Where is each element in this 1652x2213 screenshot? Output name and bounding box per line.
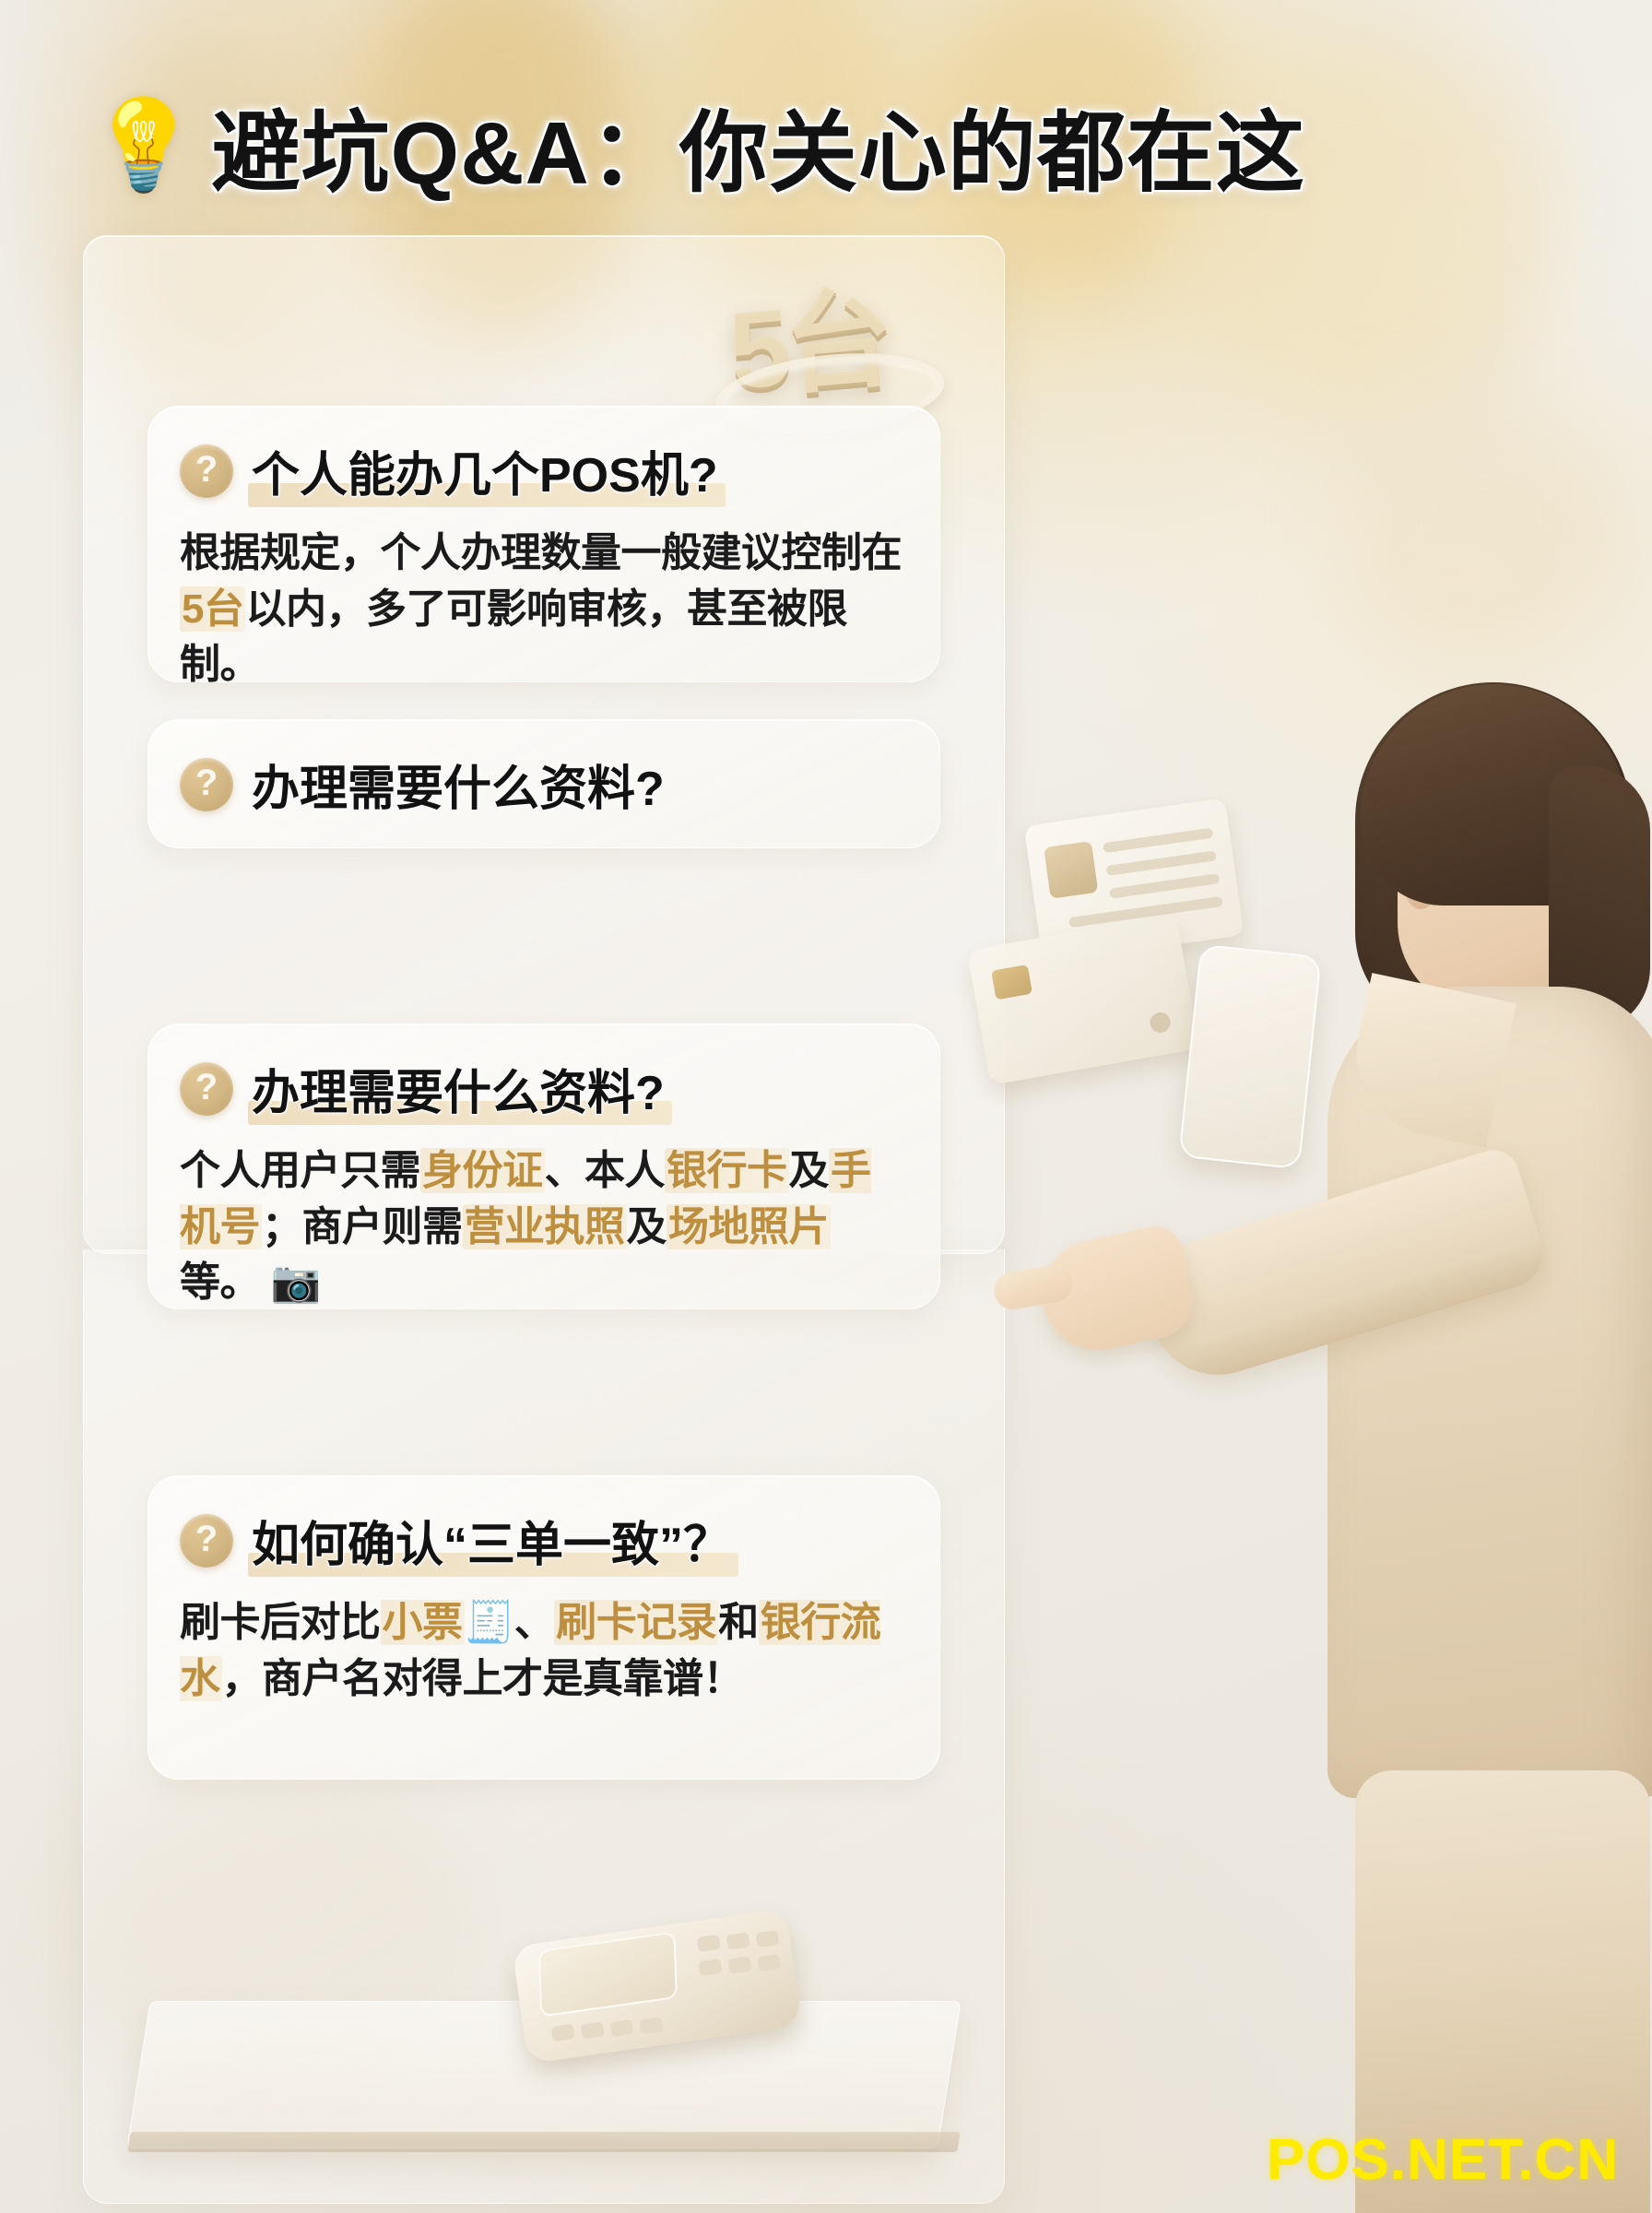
bank-card-chip [991,964,1032,1000]
faq-question-title: 办理需要什么资料? [252,1054,665,1123]
pos-key [757,1954,781,1971]
phone-icon [1178,944,1322,1170]
faq-question-row: ? 个人能办几个POS机? [180,436,904,505]
pos-machine-screen [538,1931,678,2017]
answer-text-run: ；商户则需 [262,1204,463,1249]
id-card-line [1105,850,1216,876]
faq-question-title: 个人能办几个POS机? [252,436,718,505]
answer-text-run: ，商户名对得上才是真靠谱！ [222,1656,744,1701]
faq-card[interactable]: ? 办理需要什么资料? 个人用户只需身份证、本人银行卡及手机号；商户则需营业执照… [147,1024,940,1309]
answer-text-run: 等。 📷 [180,1260,321,1305]
glass-shelf-edge [127,2132,960,2152]
question-mark-icon: ? [180,444,233,498]
faq-question-title: 如何确认“三单一致”？ [252,1506,731,1575]
site-watermark: POS.NET.CN [1267,2127,1619,2193]
answer-highlight-term: 5台 [180,586,245,632]
lightbulb-icon: 💡 [88,101,199,190]
pos-key [726,1932,750,1949]
question-mark-icon: ? [180,758,233,811]
answer-highlight-term: 场地照片 [667,1204,831,1249]
answer-text-run: 及 [789,1148,830,1193]
answer-text-run: 及 [627,1204,667,1249]
answer-text-run: 和 [718,1600,759,1645]
faq-question-row: ? 办理需要什么资料? [180,1054,904,1123]
character-illustration [1318,682,1652,2213]
id-card-avatar [1044,841,1098,899]
answer-highlight-term: 银行卡 [665,1148,789,1193]
id-card-line [1103,828,1213,854]
answer-text-run: 🧾、 [465,1600,555,1645]
answer-text-run: 个人用户只需 [180,1148,420,1193]
answer-highlight-term: 小票 [381,1600,465,1645]
question-mark-icon: ? [180,1514,233,1568]
pos-key [551,2024,575,2041]
faq-answer-text: 个人用户只需身份证、本人银行卡及手机号；商户则需营业执照及场地照片等。 📷 [180,1143,904,1311]
background-bokeh-6 [1337,387,1632,664]
faq-card[interactable]: ? 办理需要什么资料? [147,719,940,848]
question-mark-icon: ? [180,1062,233,1116]
answer-text-run: 根据规定，个人办理数量一般建议控制在 [180,530,902,575]
faq-card[interactable]: ? 个人能办几个POS机? 根据规定，个人办理数量一般建议控制在5台以内，多了可… [147,406,940,682]
pos-key [610,2019,634,2037]
pos-key [581,2021,605,2039]
pos-key [698,1959,722,1976]
pos-key [756,1930,780,1947]
pos-key [697,1935,721,1952]
answer-text-run: 、本人 [545,1148,666,1193]
answer-highlight-term: 营业执照 [463,1204,627,1249]
poster-root: 💡 避坑Q&A：你关心的都在这 5台 ? 个人能办几个POS机? 根据规定，个人… [0,0,1652,2213]
answer-text-run: 刷卡后对比 [180,1600,381,1645]
page-title: 避坑Q&A：你关心的都在这 [212,81,1305,209]
answer-highlight-term: 身份证 [420,1148,545,1193]
faq-answer-text: 根据规定，个人办理数量一般建议控制在5台以内，多了可影响审核，甚至被限制。 [180,526,904,693]
id-card-line [1109,873,1220,899]
poster-header: 💡 避坑Q&A：你关心的都在这 [0,81,1652,209]
bank-card-dot [1149,1011,1172,1034]
answer-highlight-term: 刷卡记录 [554,1600,718,1645]
faq-question-row: ? 如何确认“三单一致”？ [180,1506,904,1575]
pos-key [727,1957,751,1974]
faq-question-title: 办理需要什么资料? [252,750,665,819]
faq-card[interactable]: ? 如何确认“三单一致”？ 刷卡后对比小票🧾、刷卡记录和银行流水，商户名对得上才… [147,1475,940,1780]
faq-answer-text: 刷卡后对比小票🧾、刷卡记录和银行流水，商户名对得上才是真靠谱！ [180,1595,904,1707]
faq-question-row: ? 办理需要什么资料? [180,750,904,819]
answer-text-run: 以内，多了可影响审核，甚至被限制。 [180,586,847,688]
pos-key [640,2017,664,2034]
